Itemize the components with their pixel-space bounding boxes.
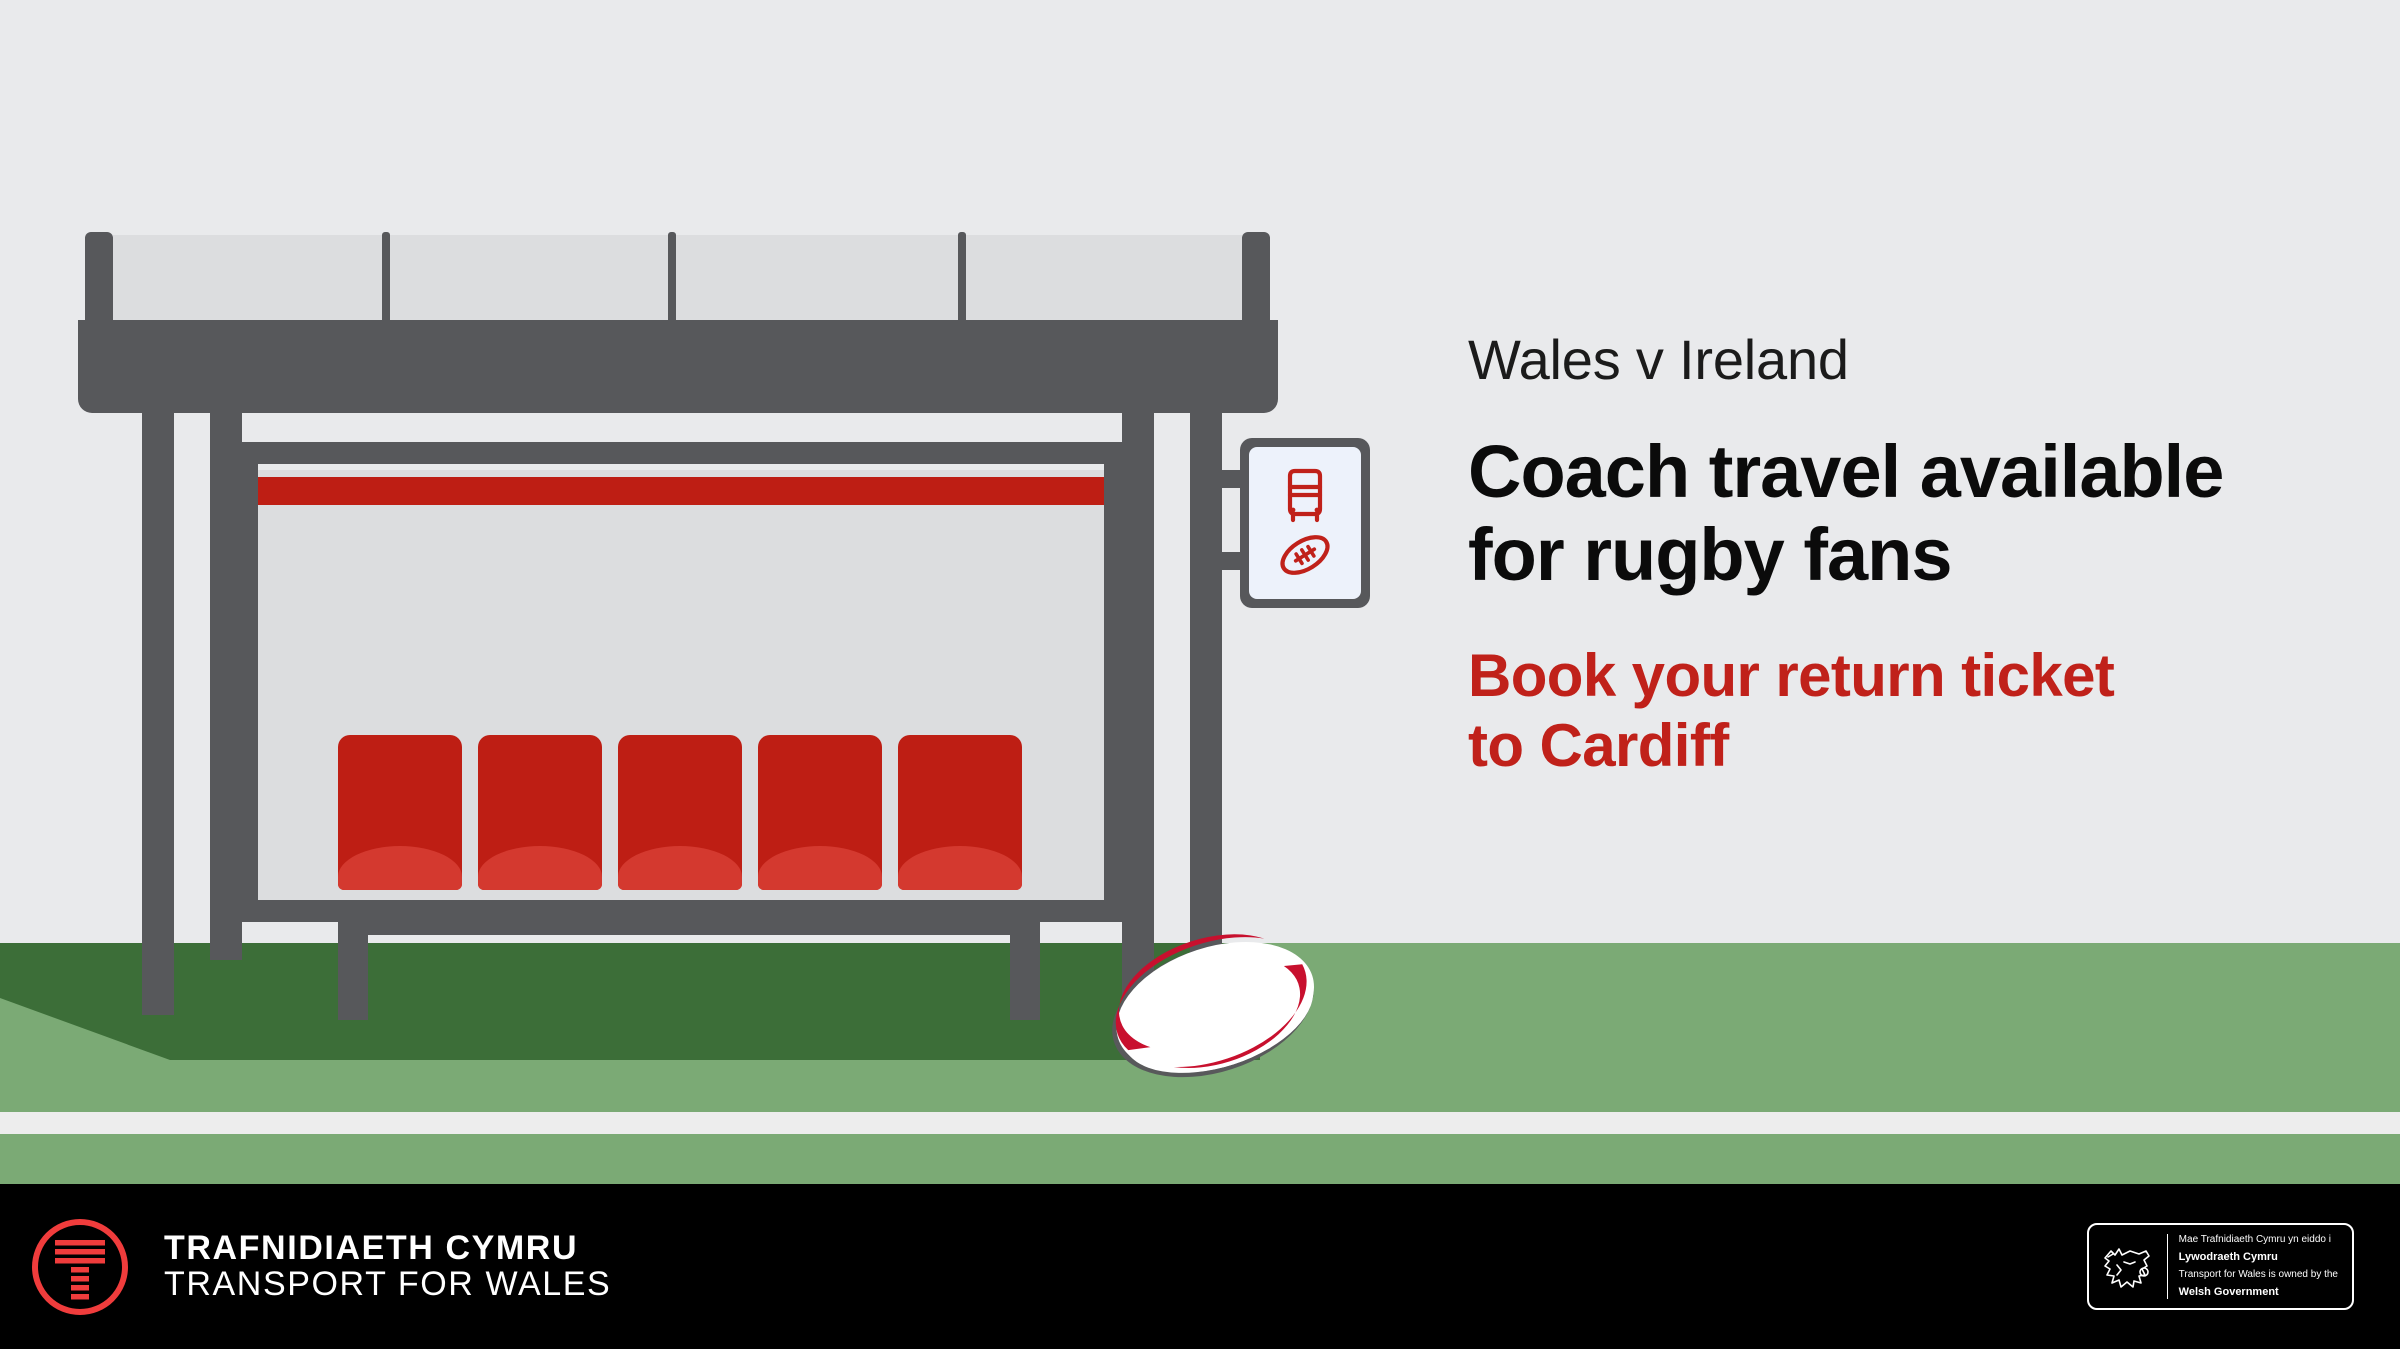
bench-leg-left (338, 903, 368, 1020)
shelter-seat-3 (618, 735, 742, 890)
double-decker-bus-icon (1280, 466, 1330, 526)
shelter-post-left-outer (142, 400, 174, 1015)
bus-stop-sign (1240, 438, 1370, 608)
welsh-government-text: Mae Trafnidiaeth Cymru yn eiddo i Lywodr… (2167, 1234, 2338, 1299)
shelter-seat-2 (478, 735, 602, 890)
welsh-dragon-crest-icon (2099, 1242, 2157, 1292)
headline-line-1: Coach travel available (1468, 431, 2348, 514)
roof-panel-4 (886, 235, 1242, 320)
glass-frame-right (1104, 442, 1126, 922)
wg-line-2: Lywodraeth Cymru (2179, 1251, 2338, 1264)
tfw-wordmark: TRAFNIDIAETH CYMRU TRANSPORT FOR WALES (164, 1231, 611, 1302)
bus-shelter-illustration (0, 0, 1400, 1010)
wg-line-1: Mae Trafnidiaeth Cymru yn eiddo i (2179, 1234, 2338, 1246)
shelter-accent-band (249, 477, 1115, 505)
roof-cap-right (1242, 232, 1270, 328)
cta-line-1: Book your return ticket (1468, 641, 2348, 711)
wg-line-3: Transport for Wales is owned by the (2179, 1269, 2338, 1281)
glass-frame-left (236, 442, 258, 922)
bus-stop-sign-face (1249, 447, 1361, 599)
shelter-post-right-inner (1122, 400, 1154, 1015)
roof-beam (78, 320, 1278, 413)
bench-leg-right (1010, 903, 1040, 1020)
shelter-seat-4 (758, 735, 882, 890)
tfw-roundel-icon (28, 1215, 132, 1319)
roof-panel-3 (596, 235, 886, 320)
wg-line-4: Welsh Government (2179, 1286, 2338, 1299)
shelter-seat-5 (898, 735, 1022, 890)
tfw-name-english: TRANSPORT FOR WALES (164, 1267, 611, 1302)
headline: Coach travel available for rugby fans (1468, 431, 2348, 597)
poster-canvas: Wales v Ireland Coach travel available f… (0, 0, 2400, 1349)
roof-panel-2 (306, 235, 596, 320)
headline-line-2: for rugby fans (1468, 514, 2348, 597)
tfw-name-welsh: TRAFNIDIAETH CYMRU (164, 1231, 611, 1266)
roof-panel-1 (113, 235, 306, 320)
roof-divider-3 (958, 232, 966, 320)
call-to-action: Book your return ticket to Cardiff (1468, 641, 2348, 780)
pitch-band-green (0, 1134, 2400, 1184)
roof-divider-1 (382, 232, 390, 320)
glass-frame-top (236, 442, 1126, 464)
tfw-brand-lockup: TRAFNIDIAETH CYMRU TRANSPORT FOR WALES (28, 1215, 611, 1319)
fixture-kicker: Wales v Ireland (1468, 330, 2348, 389)
rugby-ball-prop (1098, 930, 1328, 1090)
roof-cap-left (85, 232, 113, 328)
bench-crossbar (338, 903, 1040, 935)
rugby-ball-icon (1274, 530, 1336, 580)
shelter-seat-1 (338, 735, 462, 890)
welsh-government-badge: Mae Trafnidiaeth Cymru yn eiddo i Lywodr… (2087, 1223, 2354, 1310)
roof-divider-2 (668, 232, 676, 320)
message-block: Wales v Ireland Coach travel available f… (1468, 330, 2348, 780)
pitch-line-white (0, 1112, 2400, 1134)
cta-line-2: to Cardiff (1468, 711, 2348, 781)
footer-bar: TRAFNIDIAETH CYMRU TRANSPORT FOR WALES M… (0, 1184, 2400, 1349)
